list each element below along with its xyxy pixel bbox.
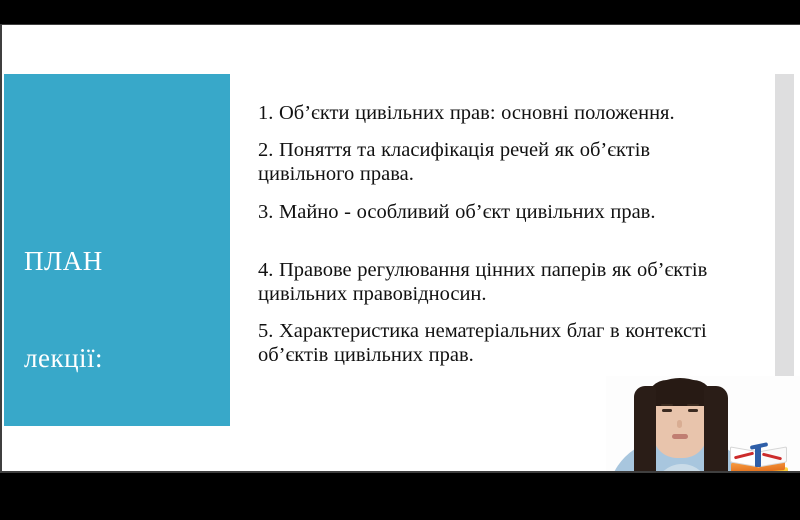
agenda-item-5: 5. Характеристика нематеріальних благ в … (258, 319, 728, 367)
letterbox-bottom (0, 473, 800, 520)
presentation-slide: ПЛАН лекції: 1. Об’єкти цивільних прав: … (0, 24, 800, 473)
stack-of-books-icon (726, 443, 790, 473)
presenter-hair-strand-left (634, 386, 656, 473)
presenter-shirt (654, 464, 710, 473)
agenda-list: 1. Об’єкти цивільних прав: основні полож… (258, 101, 728, 381)
slide-side-strip (775, 74, 794, 426)
agenda-item-1: 1. Об’єкти цивільних прав: основні полож… (258, 101, 728, 125)
video-player-stage: ПЛАН лекції: 1. Об’єкти цивільних прав: … (0, 0, 800, 520)
presenter-mouth (672, 434, 688, 439)
letterbox-top (0, 0, 800, 24)
presenter-brow-right (687, 404, 699, 406)
agenda-item-2: 2. Поняття та класифікація речей як об’є… (258, 138, 728, 186)
presenter-brow-left (661, 404, 673, 406)
plan-title-line-2: лекції: (24, 342, 103, 374)
presenter-eye-left (662, 409, 672, 412)
plan-accent-panel: ПЛАН лекції: (4, 74, 230, 426)
agenda-item-3: 3. Майно - особливий об’єкт цивільних пр… (258, 200, 728, 224)
presenter-nose (677, 420, 682, 428)
plan-title-line-1: ПЛАН (24, 245, 103, 277)
agenda-item-4: 4. Правове регулювання цінних паперів як… (258, 258, 728, 306)
presenter-hair-strand-right (704, 386, 728, 473)
plan-title: ПЛАН лекції: (24, 180, 103, 439)
presenter-eye-right (688, 409, 698, 412)
